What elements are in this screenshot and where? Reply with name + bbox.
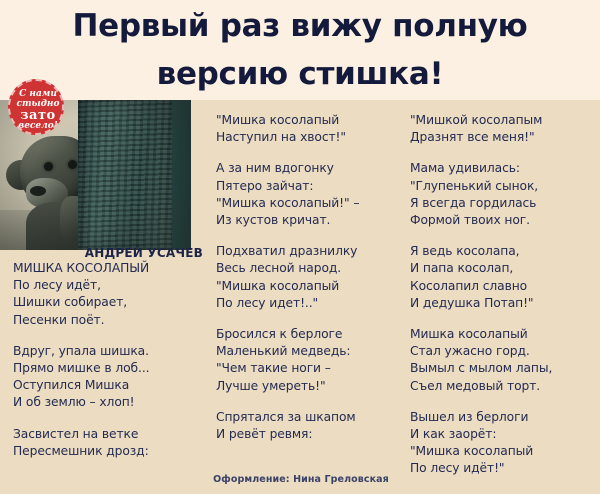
poem-column-1: МИШКА КОСОЛАПЫЙ По лесу идёт, Шишки соби… — [13, 260, 208, 460]
header-banner: Первый раз вижу полную версию стишка! — [0, 0, 600, 100]
meme-image-root: Первый раз вижу полную версию стишка! С … — [0, 0, 600, 494]
poem-stanza: "Мишкой косолапым Дразнят все меня!" — [410, 112, 600, 146]
poem-stanza: Засвистел на ветке Пересмешник дрозд: — [13, 426, 208, 460]
poem-stanza: "Мишка косолапый Наступил на хвост!" — [216, 112, 411, 146]
badge-line-1: С нами — [10, 90, 64, 99]
page-title: Первый раз вижу полную версию стишка! — [0, 2, 600, 98]
poem-stanza: Спрятался за шкапом И ревёт ревмя: — [216, 409, 411, 443]
poem-stanza: Бросился к берлоге Маленький медведь: "Ч… — [216, 326, 411, 395]
poem-stanza: Вышел из берлоги И как заорёт: "Мишка ко… — [410, 409, 600, 478]
poem-column-2: "Мишка косолапый Наступил на хвост!"А за… — [216, 112, 411, 443]
poem-stanza: МИШКА КОСОЛАПЫЙ По лесу идёт, Шишки соби… — [13, 260, 208, 329]
poem-stanza: А за ним вдогонку Пятеро зайчат: "Мишка … — [216, 160, 411, 229]
poem-column-3: "Мишкой косолапым Дразнят все меня!"Мама… — [410, 112, 600, 478]
poem-stanza: Мишка косолапый Стал ужасно горд. Вымыл … — [410, 326, 600, 395]
poem-stanza: Вдруг, упала шишка. Прямо мишке в лоб...… — [13, 343, 208, 412]
page-title-line-1: Первый раз вижу полную — [0, 2, 600, 50]
poem-stanza: Я ведь косолапа, И папа косолап, Косолап… — [410, 243, 600, 312]
badge-line-4: весело! — [10, 122, 64, 131]
poem-stanza: Мама удивилась: "Глупенький сынок, Я все… — [410, 160, 600, 229]
stamp-badge: С нами стыдно зато весело! — [8, 79, 64, 135]
page-title-line-2: версию стишка! — [0, 50, 600, 98]
author-name: АНДРЕЙ УСАЧЕВ — [0, 246, 205, 260]
poem-stanza: Подхватил дразнилку Весь лесной народ. "… — [216, 243, 411, 312]
design-credit: Оформление: Нина Греловская — [196, 474, 406, 485]
